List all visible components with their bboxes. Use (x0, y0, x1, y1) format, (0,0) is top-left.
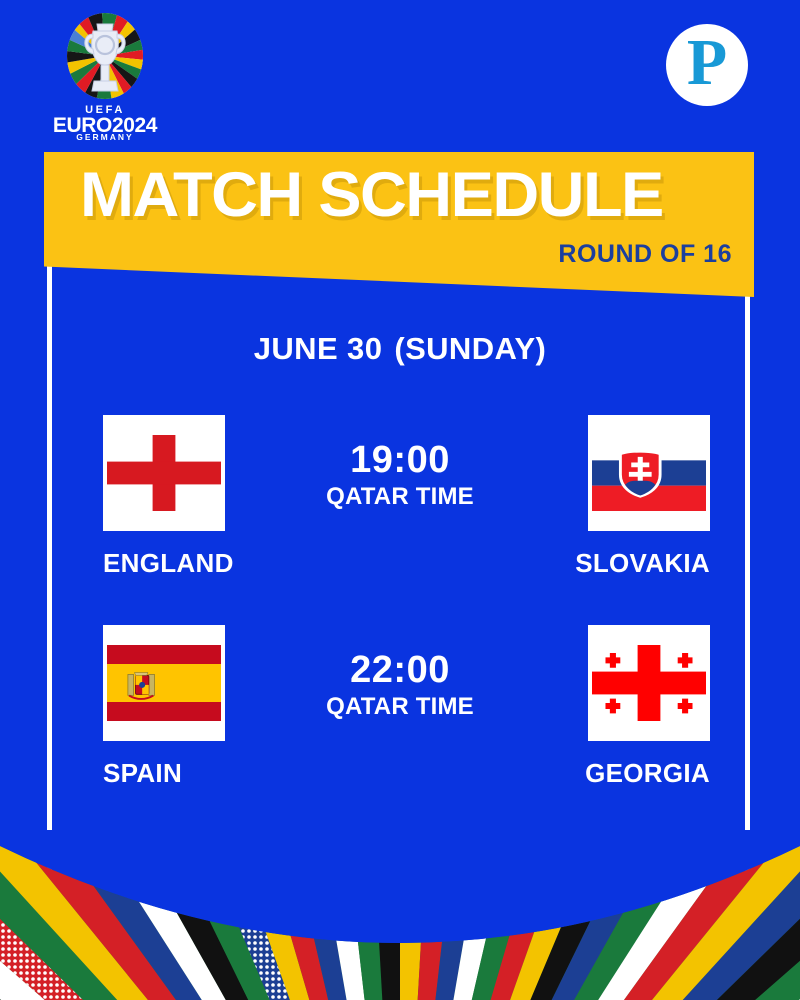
title-banner: MATCH SCHEDULE ROUND OF 16 (44, 152, 754, 297)
timezone-label: QATAR TIME (270, 693, 530, 721)
away-team: SLOVAKIA (530, 415, 710, 579)
flag-georgia-icon (588, 625, 710, 741)
day-label: (SUNDAY) (394, 331, 546, 366)
schedule-date-heading: JUNE 30(SUNDAY) (0, 331, 800, 367)
match-row: SPAIN 22:00 QATAR TIME (60, 625, 740, 815)
match-row: ENGLAND 19:00 QATAR TIME SLOVAKIA (60, 415, 740, 605)
date-label: JUNE 30 (254, 331, 383, 366)
match-schedule-poster: UEFA EURO2024 GERMANY P MATCH SCHEDULE R… (0, 0, 800, 1000)
flag-stripes-decoration (0, 790, 800, 1000)
away-team: GEORGIA (530, 625, 710, 789)
flag-england-icon (103, 415, 225, 531)
away-team-name: GEORGIA (530, 758, 710, 789)
match-center: 19:00 QATAR TIME (270, 441, 530, 511)
kickoff-time: 19:00 (270, 441, 530, 481)
timezone-label: QATAR TIME (270, 483, 530, 511)
home-team: ENGLAND (103, 415, 283, 579)
flag-slovakia-icon (588, 415, 710, 531)
page-title: MATCH SCHEDULE (80, 164, 663, 227)
brand-logo: P (666, 24, 748, 106)
brand-letter: P (687, 30, 727, 96)
match-center: 22:00 QATAR TIME (270, 651, 530, 721)
home-team: SPAIN (103, 625, 283, 789)
euro-logo-host-text: GERMANY (76, 132, 133, 140)
away-team-name: SLOVAKIA (530, 548, 710, 579)
kickoff-time: 22:00 (270, 651, 530, 691)
uefa-euro-2024-logo: UEFA EURO2024 GERMANY (44, 12, 166, 140)
home-team-name: SPAIN (103, 758, 283, 789)
banner-subtitle: ROUND OF 16 (558, 240, 732, 269)
flag-spain-icon (103, 625, 225, 741)
home-team-name: ENGLAND (103, 548, 283, 579)
